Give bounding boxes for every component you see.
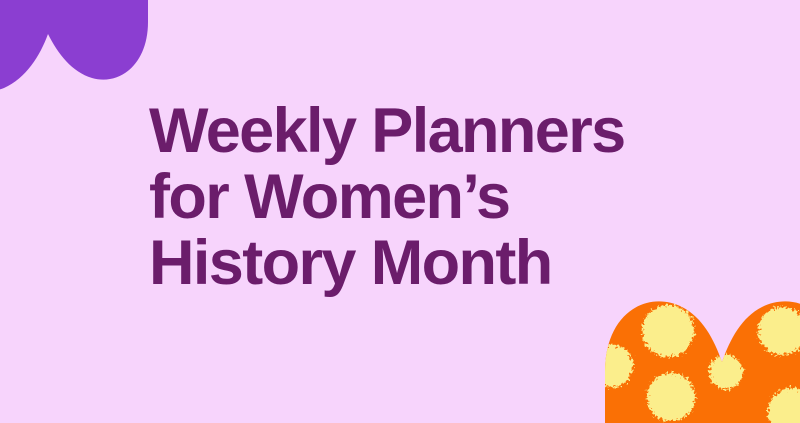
heart-dot bbox=[642, 305, 694, 357]
heart-dot-group bbox=[591, 305, 800, 423]
heart-dot bbox=[768, 388, 800, 423]
heart-dot bbox=[647, 373, 695, 421]
heart-dot bbox=[758, 307, 800, 355]
title-line-3: History Month bbox=[149, 230, 709, 296]
promo-banner: Weekly Planners for Women’s History Mont… bbox=[0, 0, 800, 423]
title-line-2: for Women’s bbox=[149, 164, 709, 230]
purple-heart-icon bbox=[0, 0, 148, 91]
orange-heart-icon bbox=[591, 301, 800, 423]
page-title: Weekly Planners for Women’s History Mont… bbox=[149, 98, 709, 296]
heart-dot bbox=[591, 345, 633, 387]
title-line-1: Weekly Planners bbox=[149, 98, 709, 164]
heart-dot bbox=[709, 355, 743, 389]
